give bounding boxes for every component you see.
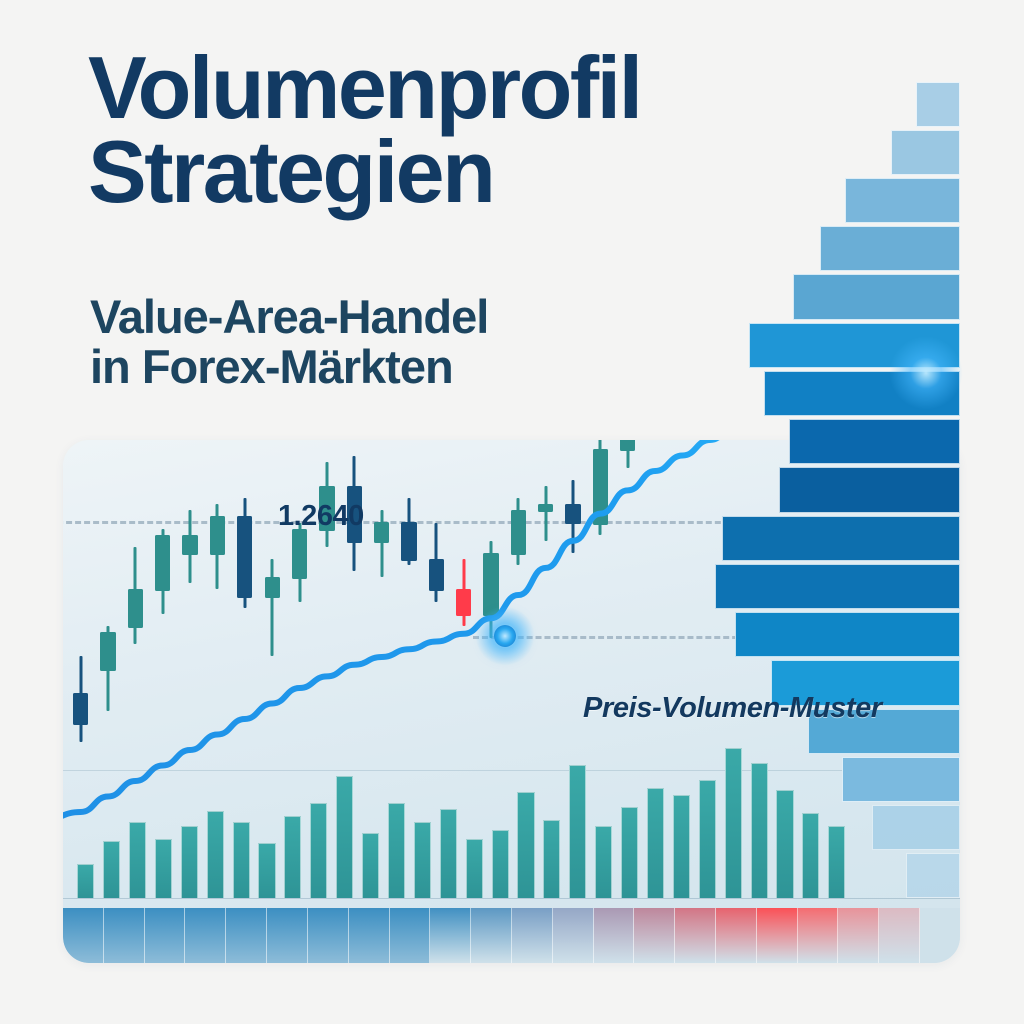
heatmap-cell [226, 908, 267, 963]
heatmap-cell [512, 908, 553, 963]
volume-bar [336, 776, 353, 898]
heatmap-cell [716, 908, 757, 963]
pattern-caption: Preis-Volumen-Muster [583, 692, 882, 725]
heatmap-cell [594, 908, 635, 963]
heatmap-cell [471, 908, 512, 963]
volume-bar [258, 843, 275, 898]
volume-bar [233, 822, 250, 898]
heatmap-cell [757, 908, 798, 963]
volume-bar [129, 822, 146, 898]
heatmap-cell [349, 908, 390, 963]
price-level-label: 1.2640 [278, 500, 364, 533]
poster-canvas: Volumenprofil Strategien Value-Area-Hand… [0, 0, 1024, 1024]
volume-bar [181, 826, 198, 898]
heatmap-cell [634, 908, 675, 963]
heatmap-cell [185, 908, 226, 963]
volume-profile-bar [735, 612, 960, 657]
volume-profile-bar [820, 226, 960, 271]
volume-bar [647, 788, 664, 898]
heatmap-cell [267, 908, 308, 963]
volume-heatmap-strip [63, 908, 960, 963]
volume-profile-bar [793, 274, 960, 319]
volume-profile-bar [715, 564, 960, 609]
volume-bar [440, 809, 457, 898]
page-subtitle: Value-Area-Handel in Forex-Märkten [90, 292, 710, 393]
volume-bar [517, 792, 534, 898]
volume-bar [388, 803, 405, 898]
volume-bar [621, 807, 638, 898]
volume-profile-bar [906, 853, 960, 898]
volume-profile-bar [722, 516, 960, 561]
volume-bar [155, 839, 172, 898]
heatmap-cell [553, 908, 594, 963]
volume-profile-histogram [705, 80, 960, 900]
subtitle-line-1: Value-Area-Handel [90, 290, 488, 343]
heatmap-cell [879, 908, 920, 963]
volume-profile-bar [916, 82, 960, 127]
volume-bar [284, 816, 301, 898]
ma-marker-dot[interactable] [494, 625, 516, 647]
heatmap-cell [390, 908, 431, 963]
volume-bar [569, 765, 586, 898]
volume-profile-bar [764, 371, 960, 416]
volume-profile-bar [779, 467, 960, 512]
heatmap-cell [798, 908, 839, 963]
volume-bar [595, 826, 612, 898]
volume-profile-bar [845, 178, 960, 223]
heatmap-cell [145, 908, 186, 963]
volume-bar [466, 839, 483, 898]
volume-bar [362, 833, 379, 898]
heatmap-cell [675, 908, 716, 963]
volume-bar [492, 830, 509, 898]
volume-profile-bar [842, 757, 960, 802]
volume-bar [77, 864, 94, 898]
heatmap-cell [104, 908, 145, 963]
subtitle-line-2: in Forex-Märkten [90, 342, 710, 392]
volume-profile-bar [872, 805, 960, 850]
volume-bar [543, 820, 560, 898]
volume-profile-bar [749, 323, 960, 368]
volume-bar [207, 811, 224, 898]
volume-bar [103, 841, 120, 898]
heatmap-cell [430, 908, 471, 963]
volume-profile-bar [789, 419, 961, 464]
volume-bar [414, 822, 431, 898]
volume-bar [673, 795, 690, 898]
heatmap-cell [838, 908, 879, 963]
heatmap-cell [63, 908, 104, 963]
heatmap-cell [308, 908, 349, 963]
volume-profile-bar [891, 130, 960, 175]
volume-bar [310, 803, 327, 898]
